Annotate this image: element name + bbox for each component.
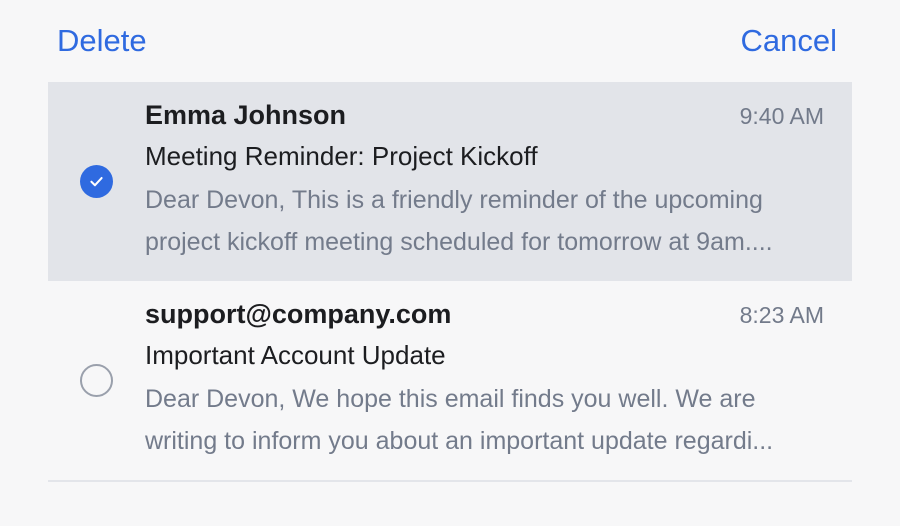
select-toggle-0[interactable] [48,98,145,263]
email-subject: Meeting Reminder: Project Kickoff [145,140,824,172]
email-timestamp: 9:40 AM [740,99,824,133]
email-sender: support@company.com [145,297,451,331]
email-list: Emma Johnson 9:40 AM Meeting Reminder: P… [0,82,900,482]
email-timestamp: 8:23 AM [740,298,824,332]
checkbox-checked-icon[interactable] [80,165,113,198]
email-content: support@company.com 8:23 AM Important Ac… [145,297,852,462]
checkbox-unchecked-icon[interactable] [80,364,113,397]
table-row[interactable]: Emma Johnson 9:40 AM Meeting Reminder: P… [48,82,852,281]
email-preview: Dear Devon, This is a friendly reminder … [145,179,824,263]
email-content: Emma Johnson 9:40 AM Meeting Reminder: P… [145,98,852,263]
cancel-button[interactable]: Cancel [741,22,838,60]
email-subject: Important Account Update [145,339,824,371]
email-sender: Emma Johnson [145,98,346,132]
email-selection-screen: Delete Cancel Emma Johnson 9:40 AM Meeti… [0,0,900,526]
list-divider [48,480,852,482]
email-preview: Dear Devon, We hope this email finds you… [145,378,824,462]
delete-button[interactable]: Delete [57,22,147,60]
select-toggle-1[interactable] [48,297,145,462]
action-toolbar: Delete Cancel [0,0,900,82]
email-header-line: support@company.com 8:23 AM [145,297,824,332]
table-row[interactable]: support@company.com 8:23 AM Important Ac… [48,281,852,480]
email-header-line: Emma Johnson 9:40 AM [145,98,824,133]
